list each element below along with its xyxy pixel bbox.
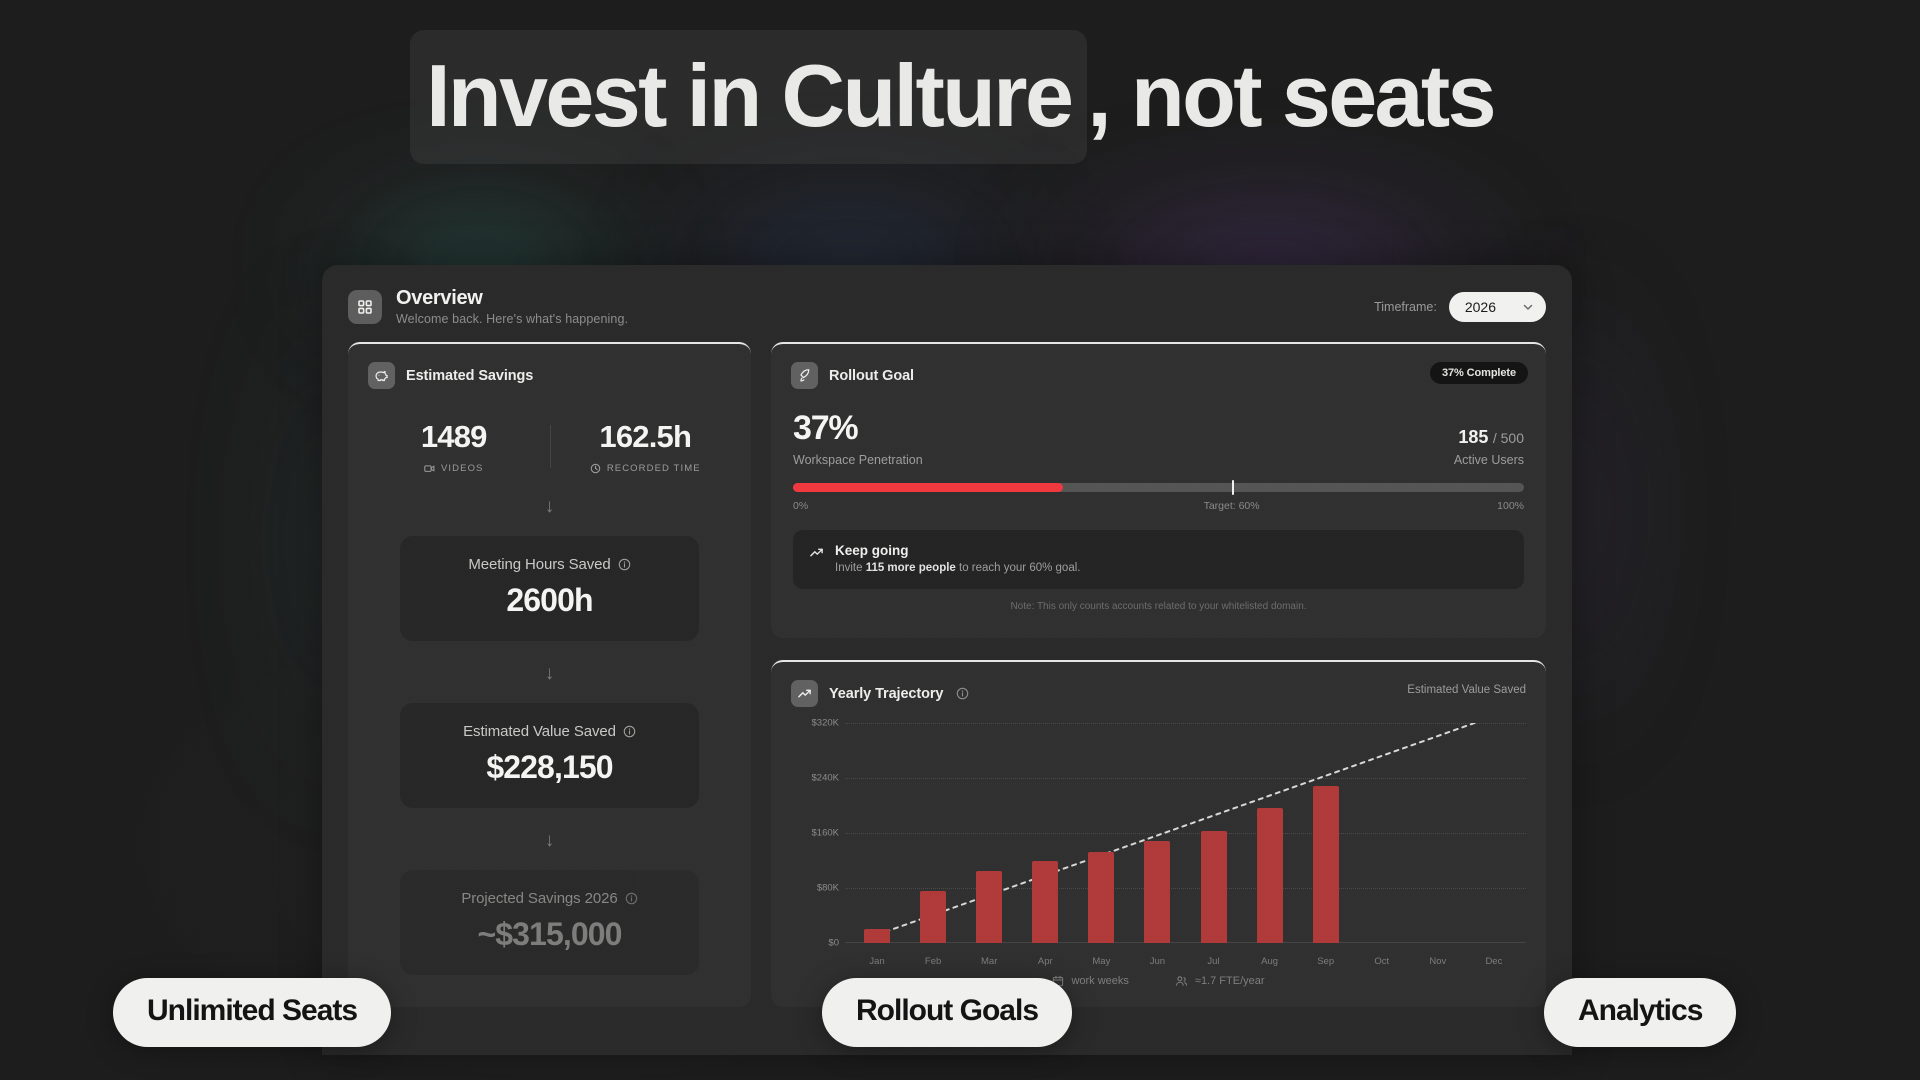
progress-track[interactable]	[793, 483, 1524, 492]
chart-bar-column	[1185, 723, 1241, 943]
keep-going-callout: Keep going Invite 115 more people to rea…	[793, 530, 1524, 589]
pill-unlimited-seats[interactable]: Unlimited Seats	[113, 978, 391, 1047]
trend-up-icon	[791, 680, 818, 707]
chart-bar-column	[1354, 723, 1410, 943]
penetration-percent: 37%	[793, 411, 923, 445]
x-axis-label: Mar	[961, 956, 1017, 967]
table-row[interactable]	[1032, 861, 1058, 944]
scale-target: Target: 60%	[1204, 500, 1260, 512]
estimated-savings-title: Estimated Savings	[406, 368, 533, 384]
scale-min: 0%	[793, 500, 808, 512]
flow-arrow-3: ↓	[348, 830, 751, 852]
table-row[interactable]	[920, 891, 946, 943]
estimated-value-saved-label: Estimated Value Saved	[463, 723, 616, 740]
video-icon	[424, 464, 435, 473]
left-column: Estimated Savings 1489 VIDEOS	[348, 342, 751, 1007]
meeting-hours-saved-label: Meeting Hours Saved	[468, 556, 610, 573]
yearly-trajectory-title: Yearly Trajectory	[829, 686, 943, 702]
x-axis-label: Aug	[1242, 956, 1298, 967]
chart-bar-column	[1017, 723, 1073, 943]
x-axis-label: Jan	[849, 956, 905, 967]
chart-bar-column	[1073, 723, 1129, 943]
chart-bar-column	[1410, 723, 1466, 943]
keep-going-title: Keep going	[835, 543, 1080, 558]
y-axis-tick: $160K	[791, 828, 839, 839]
x-axis-label: Oct	[1354, 956, 1410, 967]
chart-bar-column	[1129, 723, 1185, 943]
chevron-down-icon	[1522, 301, 1534, 313]
active-users-block: 185 / 500 Active Users	[1454, 427, 1524, 467]
status-badge: 37% Complete	[1430, 362, 1528, 384]
chart-bar-column	[1466, 723, 1522, 943]
table-row[interactable]	[864, 929, 890, 943]
active-users-count-row: 185 / 500	[1454, 427, 1524, 448]
x-axis-label: Apr	[1017, 956, 1073, 967]
estimated-savings-card: Estimated Savings 1489 VIDEOS	[348, 342, 751, 1007]
x-axis-label: Jun	[1129, 956, 1185, 967]
timeframe-select[interactable]: 2026	[1449, 292, 1546, 322]
table-row[interactable]	[1313, 786, 1339, 943]
stat-videos-label: VIDEOS	[441, 463, 484, 474]
chart-footer-item-1: ≈1.7 FTE/year	[1175, 975, 1265, 987]
dashboard-grid: Estimated Savings 1489 VIDEOS	[322, 342, 1572, 1007]
x-axis-label: Jul	[1185, 956, 1241, 967]
estimated-value-saved-value: $228,150	[414, 749, 685, 786]
progress-section: 0% Target: 60% 100%	[771, 483, 1546, 512]
chart-footer-text-0: work weeks	[1071, 975, 1128, 987]
y-axis-tick: $320K	[791, 718, 839, 729]
table-row[interactable]	[1201, 831, 1227, 943]
poster-canvas: Invest in Culture, not seats Overview We…	[0, 0, 1920, 1080]
estimated-value-saved-label-row: Estimated Value Saved	[414, 723, 685, 740]
meeting-hours-saved-label-row: Meeting Hours Saved	[414, 556, 685, 573]
chart-bar-column	[1242, 723, 1298, 943]
x-axis-label: Sep	[1298, 956, 1354, 967]
target-marker	[1232, 480, 1235, 495]
rocket-icon	[791, 362, 818, 389]
projected-savings-card: Projected Savings 2026 ~$315,000	[400, 870, 699, 975]
active-users-total: / 500	[1493, 430, 1524, 446]
meeting-hours-saved-card: Meeting Hours Saved 2600h	[400, 536, 699, 641]
rollout-stats: 37% Workspace Penetration 185 / 500 Acti…	[771, 389, 1546, 467]
scale-max: 100%	[1497, 500, 1524, 512]
headline-highlight: Invest in Culture	[410, 30, 1087, 164]
flow-arrow-1: ↓	[348, 496, 751, 518]
savings-stats-row: 1489 VIDEOS 162.5h	[348, 419, 751, 474]
headline-rest: , not seats	[1083, 52, 1494, 140]
timeframe-label: Timeframe:	[1374, 300, 1437, 314]
y-axis-tick: $0	[791, 938, 839, 949]
rollout-goal-title: Rollout Goal	[829, 368, 914, 384]
stat-recorded-time-label-row: RECORDED TIME	[550, 463, 742, 474]
kg-text-after: to reach your 60% goal.	[956, 562, 1081, 574]
x-axis-label: Dec	[1466, 956, 1522, 967]
kg-text-bold: 115 more people	[866, 562, 956, 574]
stat-videos-label-row: VIDEOS	[358, 463, 550, 474]
projected-savings-label-row: Projected Savings 2026	[414, 890, 685, 907]
chart-bars	[849, 723, 1522, 943]
active-users-caption: Active Users	[1454, 453, 1524, 467]
stat-recorded-time: 162.5h RECORDED TIME	[550, 419, 742, 474]
kg-text-before: Invite	[835, 562, 866, 574]
page-title: Overview	[396, 287, 628, 310]
info-icon[interactable]	[618, 558, 631, 571]
projected-savings-value: ~$315,000	[414, 916, 685, 953]
y-axis-tick: $80K	[791, 883, 839, 894]
chart-plot-area: $0$80K$160K$240K$320K JanFebMarAprMayJun…	[791, 723, 1526, 969]
headline-block: Invest in Culture, not seats	[0, 52, 1920, 140]
stat-recorded-time-value: 162.5h	[550, 419, 742, 455]
info-icon[interactable]	[625, 892, 638, 905]
info-icon[interactable]	[623, 725, 636, 738]
progress-fill	[793, 483, 1063, 492]
keep-going-text: Invite 115 more people to reach your 60%…	[835, 562, 1080, 574]
chart-bar-column	[961, 723, 1017, 943]
projected-savings-label: Projected Savings 2026	[461, 890, 617, 907]
info-icon[interactable]	[956, 687, 969, 700]
chart-footer-item-0: work weeks	[1052, 975, 1128, 987]
chart-x-labels: JanFebMarAprMayJunJulAugSepOctNovDec	[849, 956, 1522, 967]
dashboard-window: Overview Welcome back. Here's what's hap…	[322, 265, 1572, 1055]
penetration-caption: Workspace Penetration	[793, 453, 923, 467]
rollout-goal-card: Rollout Goal 37% Complete 37% Workspace …	[771, 342, 1546, 638]
right-column: Rollout Goal 37% Complete 37% Workspace …	[771, 342, 1546, 1007]
table-row[interactable]	[1257, 808, 1283, 943]
grid-icon	[348, 290, 382, 324]
active-users-current: 185	[1458, 427, 1488, 447]
page-subtitle: Welcome back. Here's what's happening.	[396, 312, 628, 326]
progress-scale: 0% Target: 60% 100%	[793, 500, 1524, 512]
timeframe-value: 2026	[1465, 299, 1496, 315]
stat-recorded-time-label: RECORDED TIME	[607, 463, 701, 474]
yearly-trajectory-card: Yearly Trajectory Estimated Value Saved …	[771, 660, 1546, 1007]
chart-bar-column	[905, 723, 961, 943]
pill-analytics[interactable]: Analytics	[1544, 978, 1736, 1047]
table-row[interactable]	[1144, 841, 1170, 943]
stat-videos-value: 1489	[358, 419, 550, 455]
rollout-note: Note: This only counts accounts related …	[771, 601, 1546, 612]
table-row[interactable]	[1088, 852, 1114, 943]
meeting-hours-saved-value: 2600h	[414, 582, 685, 619]
chart-legend: Estimated Value Saved	[1407, 684, 1526, 696]
estimated-value-saved-card: Estimated Value Saved $228,150	[400, 703, 699, 808]
piggy-bank-icon	[368, 362, 395, 389]
people-icon	[1175, 975, 1188, 987]
headline: Invest in Culture, not seats	[426, 52, 1494, 140]
chart-footer-text-1: ≈1.7 FTE/year	[1195, 975, 1265, 987]
chart-bar-column	[1298, 723, 1354, 943]
clock-icon	[590, 463, 601, 474]
x-axis-label: Nov	[1410, 956, 1466, 967]
table-row[interactable]	[976, 871, 1002, 943]
dashboard-header: Overview Welcome back. Here's what's hap…	[322, 265, 1572, 342]
flow-arrow-2: ↓	[348, 663, 751, 685]
pill-rollout-goals[interactable]: Rollout Goals	[822, 978, 1072, 1047]
penetration-block: 37% Workspace Penetration	[793, 411, 923, 467]
trend-up-icon	[809, 545, 824, 574]
stat-videos: 1489 VIDEOS	[358, 419, 550, 474]
y-axis-tick: $240K	[791, 773, 839, 784]
x-axis-label: May	[1073, 956, 1129, 967]
x-axis-label: Feb	[905, 956, 961, 967]
chart-bar-column	[849, 723, 905, 943]
